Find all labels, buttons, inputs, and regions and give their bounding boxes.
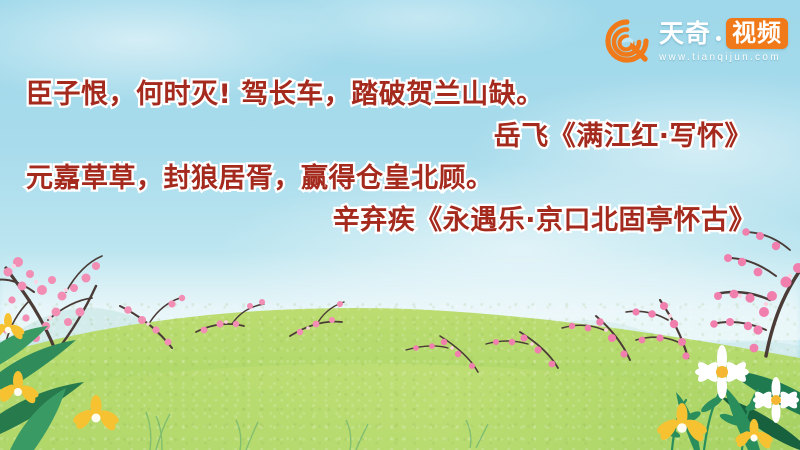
poem-line-2: 元嘉草草，封狼居胥，赢得仓皇北顾。 xyxy=(26,158,774,200)
brand-url: www.tianqijun.com xyxy=(659,51,788,65)
poem-credit-1: 岳飞《满江红·写怀》 xyxy=(26,116,774,158)
green-hill xyxy=(0,300,800,450)
brand-badge: 视频 xyxy=(726,18,788,49)
video-title-card: 臣子恨，何时灭! 驾长车，踏破贺兰山缺。 岳飞《满江红·写怀》 元嘉草草，封狼居… xyxy=(0,0,800,450)
brand-separator-dot xyxy=(716,36,721,41)
poem-text-block: 臣子恨，何时灭! 驾长车，踏破贺兰山缺。 岳飞《满江红·写怀》 元嘉草草，封狼居… xyxy=(0,74,800,242)
brand-watermark[interactable]: 天奇 视频 www.tianqijun.com xyxy=(602,12,788,70)
poem-credit-2: 辛弃疾《永遇乐·京口北固亭怀古》 xyxy=(26,200,774,242)
brand-text: 天奇 视频 www.tianqijun.com xyxy=(659,16,788,66)
brand-name: 天奇 xyxy=(659,19,711,49)
q-spiral-logo-icon xyxy=(602,16,652,66)
poem-line-1: 臣子恨，何时灭! 驾长车，踏破贺兰山缺。 xyxy=(26,74,774,116)
